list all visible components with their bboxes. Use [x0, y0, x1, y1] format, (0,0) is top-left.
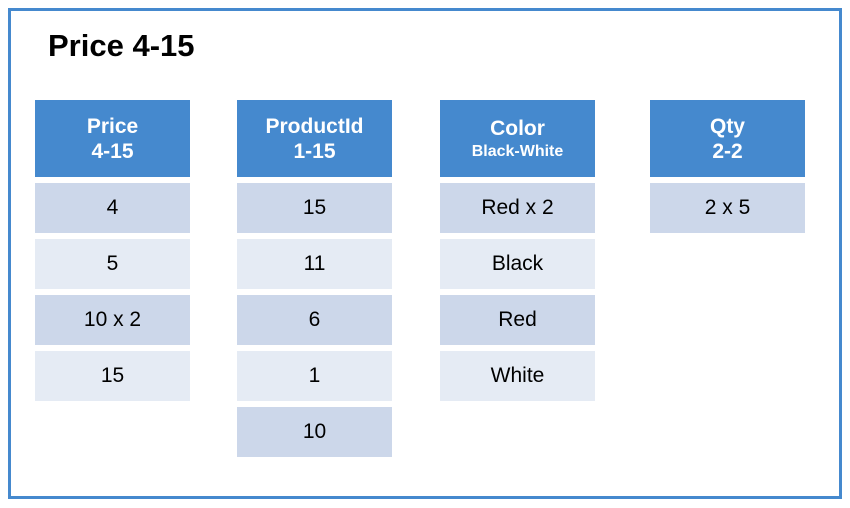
column-header-color: Color Black-White	[440, 100, 595, 177]
table-cell[interactable]: 2 x 5	[650, 183, 805, 233]
column-header-title: Price	[87, 114, 138, 139]
table-cell[interactable]: Red x 2	[440, 183, 595, 233]
table-cell[interactable]: 15	[237, 183, 392, 233]
column-qty: Qty 2-2 2 x 5	[650, 100, 805, 239]
column-header-subtitle: 2-2	[712, 139, 742, 164]
column-header-title: Color	[490, 116, 545, 141]
column-header-subtitle: 1-15	[293, 139, 335, 164]
table-cell[interactable]: 10 x 2	[35, 295, 190, 345]
column-price: Price 4-15 4 5 10 x 2 15	[35, 100, 190, 407]
table-cell[interactable]: 15	[35, 351, 190, 401]
column-header-subtitle: Black-White	[472, 141, 564, 162]
column-header-title: Qty	[710, 114, 745, 139]
column-group: Price 4-15 4 5 10 x 2 15 ProductId 1-15 …	[0, 0, 850, 508]
column-header-title: ProductId	[266, 114, 364, 139]
table-cell[interactable]: 5	[35, 239, 190, 289]
table-cell[interactable]: 4	[35, 183, 190, 233]
column-header-subtitle: 4-15	[91, 139, 133, 164]
column-header-qty: Qty 2-2	[650, 100, 805, 177]
table-cell[interactable]: White	[440, 351, 595, 401]
column-productid: ProductId 1-15 15 11 6 1 10	[237, 100, 392, 463]
column-header-price: Price 4-15	[35, 100, 190, 177]
column-header-productid: ProductId 1-15	[237, 100, 392, 177]
slide-canvas: Price 4-15 Price 4-15 4 5 10 x 2 15 Prod…	[0, 0, 850, 508]
table-cell[interactable]: Red	[440, 295, 595, 345]
table-cell[interactable]: 11	[237, 239, 392, 289]
table-cell[interactable]: 10	[237, 407, 392, 457]
table-cell[interactable]: 6	[237, 295, 392, 345]
table-cell[interactable]: 1	[237, 351, 392, 401]
column-color: Color Black-White Red x 2 Black Red Whit…	[440, 100, 595, 407]
table-cell[interactable]: Black	[440, 239, 595, 289]
